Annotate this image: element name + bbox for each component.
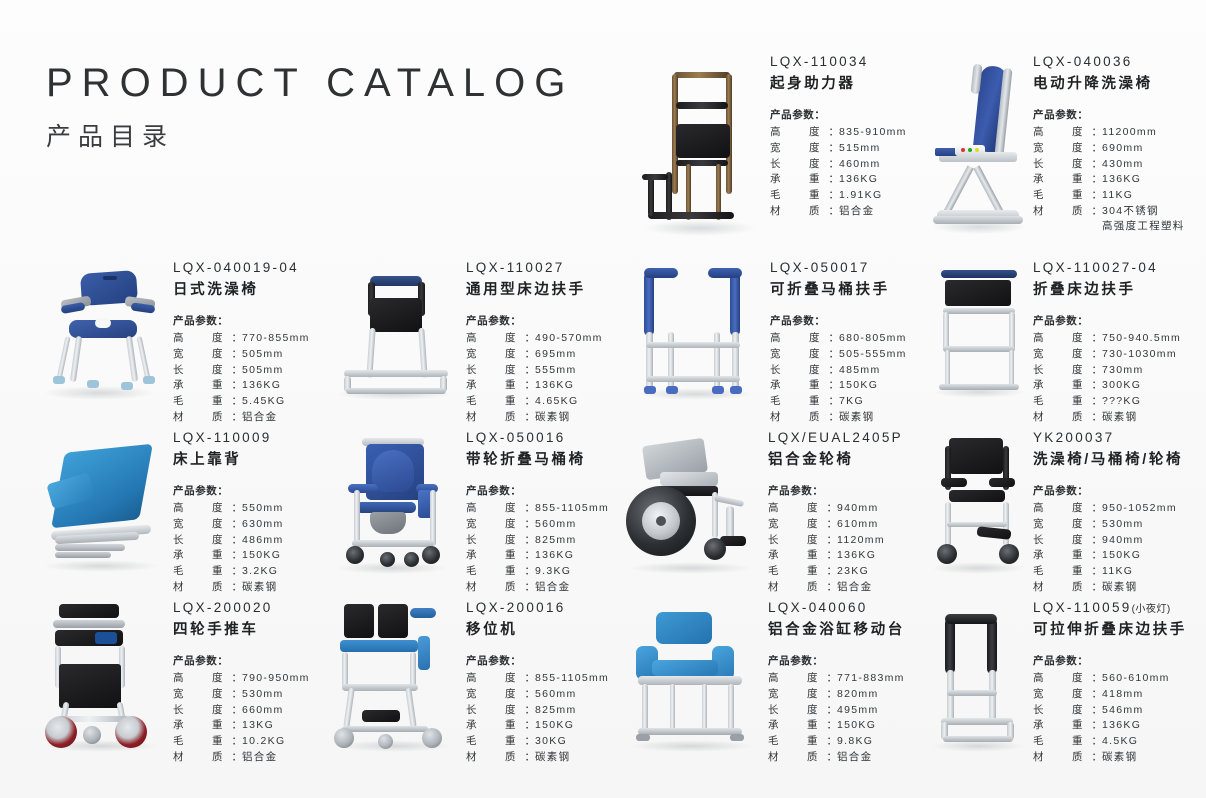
product-name: 通用型床边扶手 [466,282,618,299]
spec-row-height: 高 度：855-1105mm [466,501,609,517]
product-image-lqx-eual2405p [608,428,768,578]
spec-row-width: 宽 度：560mm [466,516,609,532]
product-name: 电动升降洗澡椅 [1033,76,1205,93]
spec-row-height: 高 度：770-855mm [173,331,310,347]
product-name: 铝合金浴缸移动台 [768,622,918,639]
product-name: 铝合金轮椅 [768,452,918,469]
product-model: LQX-110059(小夜灯) [1033,600,1205,616]
spec-row-height: 高 度：550mm [173,501,284,517]
product-image-lqx-110027-04 [925,258,1033,406]
spec-row-load: 承 重：150KG [173,548,284,564]
product-name: 洗澡椅/马桶椅/轮椅 [1033,452,1205,469]
product-model: LQX-110027-04 [1033,260,1205,276]
product-model: LQX-040019-04 [173,260,325,276]
spec-row-gross: 毛 重：9.3KG [466,563,609,579]
spec-row-load: 承 重：150KG [768,718,905,734]
product-image-lqx-110027 [318,258,466,406]
spec-row-material: 材 质：铝合金 [466,579,609,595]
spec-row-length: 长 度：486mm [173,532,284,548]
spec-row-height: 高 度：855-1105mm [466,671,609,687]
spec-row-gross: 毛 重：4.65KG [466,393,603,409]
spec-table: 高 度：490-570mm 宽 度：695mm 长 度：555mm 承 重：13… [466,331,603,425]
product-model: LQX/EUAL2405P [768,430,918,446]
spec-heading: 产品参数： [466,653,618,668]
product-card-lqx-200016[interactable]: LQX-200016 移位机 产品参数： 高 度：855-1105mm 宽 度：… [318,598,618,765]
product-image-lqx-050017 [620,258,770,406]
spec-heading: 产品参数： [770,107,907,122]
spec-row-material: 材 质：碳素钢 [1033,409,1181,425]
spec-row-width: 宽 度：505-555mm [770,346,907,362]
spec-row-width: 宽 度：418mm [1033,686,1170,702]
spec-row-gross: 毛 重：7KG [770,393,907,409]
spec-table: 高 度：855-1105mm 宽 度：560mm 长 度：825mm 承 重：1… [466,501,609,595]
spec-row-load: 承 重：136KG [173,378,310,394]
product-card-lqx-050016[interactable]: LQX-050016 带轮折叠马桶椅 产品参数： 高 度：855-1105mm … [318,428,618,595]
product-name: 带轮折叠马桶椅 [466,452,618,469]
product-card-lqx-040019-04[interactable]: LQX-040019-04 日式洗澡椅 产品参数： 高 度：770-855mm … [25,258,325,425]
spec-row-material: 材 质：铝合金 [768,579,885,595]
product-image-lqx-040019-04 [25,258,173,406]
product-image-lqx-110034 [630,52,770,242]
spec-heading: 产品参数： [173,313,325,328]
spec-row-gross: 毛 重：23KG [768,563,885,579]
spec-table: 高 度：770-855mm 宽 度：505mm 长 度：505mm 承 重：13… [173,331,310,425]
product-name: 床上靠背 [173,452,325,469]
product-image-lqx-110009 [25,428,173,578]
product-image-lqx-110059 [925,598,1033,758]
product-image-lqx-040036 [925,52,1033,242]
spec-row-gross: 毛 重：9.8KG [768,733,905,749]
product-model: LQX-110034 [770,54,907,70]
spec-row-height: 高 度：771-883mm [768,671,905,687]
spec-heading: 产品参数： [768,483,918,498]
spec-heading: 产品参数： [173,653,325,668]
spec-row-gross: 毛 重：10.2KG [173,733,310,749]
spec-row-material: 材 质：碳素钢 [173,579,284,595]
spec-row-material: 材 质：304不锈钢 [1033,203,1185,219]
spec-heading: 产品参数： [466,313,618,328]
spec-heading: 产品参数： [1033,313,1205,328]
spec-row-height: 高 度：750-940.5mm [1033,331,1181,347]
spec-row-load: 承 重：300KG [1033,378,1181,394]
spec-row-material: 材 质：碳素钢 [1033,749,1170,765]
spec-row-load: 承 重：136KG [1033,172,1185,188]
product-card-lqx-110059[interactable]: LQX-110059(小夜灯) 可拉伸折叠床边扶手 产品参数： 高 度：560-… [925,598,1205,765]
spec-row-material: 材 质：铝合金 [770,203,907,219]
product-name: 可折叠马桶扶手 [770,282,920,299]
product-card-lqx-eual2405p[interactable]: LQX/EUAL2405P 铝合金轮椅 产品参数： 高 度：940mm 宽 度：… [608,428,918,595]
product-model: LQX-050016 [466,430,618,446]
spec-row-length: 长 度：660mm [173,702,310,718]
spec-table: 高 度：950-1052mm 宽 度：530mm 长 度：940mm 承 重：1… [1033,501,1177,595]
spec-heading: 产品参数： [1033,107,1205,122]
product-card-lqx-110027[interactable]: LQX-110027 通用型床边扶手 产品参数： 高 度：490-570mm 宽… [318,258,618,425]
material-extra: 高强度工程塑料 [1102,219,1185,235]
product-card-lqx-040060[interactable]: LQX-040060 铝合金浴缸移动台 产品参数： 高 度：771-883mm … [608,598,918,765]
product-image-lqx-050016 [318,428,466,578]
spec-row-load: 承 重：136KG [768,548,885,564]
catalog-header: PRODUCT CATALOG 产品目录 [46,62,606,153]
product-model: YK200037 [1033,430,1205,446]
product-image-lqx-040060 [608,598,768,758]
product-model: LQX-040060 [768,600,918,616]
product-model: LQX-200016 [466,600,618,616]
product-name: 移位机 [466,622,618,639]
product-name: 四轮手推车 [173,622,325,639]
spec-row-length: 长 度：460mm [770,156,907,172]
product-image-yk200037 [925,428,1033,578]
spec-row-gross: 毛 重：3.2KG [173,563,284,579]
page-title-chinese: 产品目录 [46,117,606,153]
spec-row-gross: 毛 重：11KG [1033,563,1177,579]
spec-row-load: 承 重：136KG [1033,718,1170,734]
spec-row-load: 承 重：150KG [1033,548,1177,564]
spec-heading: 产品参数： [173,483,325,498]
spec-row-material: 材 质：铝合金 [173,409,310,425]
spec-row-width: 宽 度：730-1030mm [1033,346,1181,362]
product-image-lqx-200016 [318,598,466,758]
spec-row-gross: 毛 重：1.91KG [770,187,907,203]
spec-row-width: 宽 度：690mm [1033,140,1185,156]
spec-row-width: 宽 度：530mm [1033,516,1177,532]
spec-row-width: 宽 度：515mm [770,140,907,156]
product-image-lqx-200020 [25,598,173,758]
spec-row-gross: 毛 重：5.45KG [173,393,310,409]
spec-row-width: 宽 度：820mm [768,686,905,702]
spec-table: 高 度：940mm 宽 度：610mm 长 度：1120mm 承 重：136KG… [768,501,885,595]
spec-row-gross: 毛 重：???KG [1033,393,1181,409]
product-card-lqx-110027-04[interactable]: LQX-110027-04 折叠床边扶手 产品参数： 高 度：750-940.5… [925,258,1205,425]
product-name: 日式洗澡椅 [173,282,325,299]
spec-row-height: 高 度：950-1052mm [1033,501,1177,517]
spec-table: 高 度：771-883mm 宽 度：820mm 长 度：495mm 承 重：15… [768,671,905,765]
product-card-lqx-050017[interactable]: LQX-050017 可折叠马桶扶手 产品参数： 高 度：680-805mm 宽… [620,258,920,425]
spec-row-height: 高 度：680-805mm [770,331,907,347]
spec-row-width: 宽 度：695mm [466,346,603,362]
product-model: LQX-110009 [173,430,325,446]
spec-row-load: 承 重：136KG [770,172,907,188]
spec-row-gross: 毛 重：30KG [466,733,609,749]
spec-row-length: 长 度：495mm [768,702,905,718]
spec-heading: 产品参数： [770,313,920,328]
spec-row-height: 高 度：790-950mm [173,671,310,687]
product-name: 可拉伸折叠床边扶手 [1033,622,1205,639]
spec-table: 高 度：550mm 宽 度：630mm 长 度：486mm 承 重：150KG … [173,501,284,595]
spec-table: 高 度：11200mm 宽 度：690mm 长 度：430mm 承 重：136K… [1033,125,1185,235]
spec-row-height: 高 度：940mm [768,501,885,517]
spec-table: 高 度：560-610mm 宽 度：418mm 长 度：546mm 承 重：13… [1033,671,1170,765]
product-card-lqx-040036[interactable]: LQX-040036 电动升降洗澡椅 产品参数： 高 度：11200mm 宽 度… [925,52,1205,242]
product-model: LQX-200020 [173,600,325,616]
product-name: 折叠床边扶手 [1033,282,1205,299]
product-name: 起身助力器 [770,76,907,93]
spec-row-load: 承 重：13KG [173,718,310,734]
spec-table: 高 度：680-805mm 宽 度：505-555mm 长 度：485mm 承 … [770,331,907,425]
spec-row-load: 承 重：136KG [466,548,609,564]
spec-row-length: 长 度：555mm [466,362,603,378]
spec-row-material: 材 质：碳素钢 [466,749,609,765]
spec-row-height: 高 度：560-610mm [1033,671,1170,687]
spec-row-material: 材 质：碳素钢 [466,409,603,425]
spec-row-width: 宽 度：560mm [466,686,609,702]
product-model: LQX-110027 [466,260,618,276]
spec-row-material: 材 质：铝合金 [768,749,905,765]
spec-row-length: 长 度：940mm [1033,532,1177,548]
spec-heading: 产品参数： [1033,483,1205,498]
spec-row-width: 宽 度：630mm [173,516,284,532]
spec-row-length: 长 度：730mm [1033,362,1181,378]
spec-table: 高 度：750-940.5mm 宽 度：730-1030mm 长 度：730mm… [1033,331,1181,425]
spec-table: 高 度：855-1105mm 宽 度：560mm 长 度：825mm 承 重：1… [466,671,609,765]
spec-row-gross: 毛 重：11KG [1033,187,1185,203]
spec-row-load: 承 重：150KG [466,718,609,734]
spec-row-height: 高 度：490-570mm [466,331,603,347]
product-model: LQX-050017 [770,260,920,276]
spec-row-material-extra: 高强度工程塑料 [1033,219,1185,235]
product-card-lqx-110009[interactable]: LQX-110009 床上靠背 产品参数： 高 度：550mm 宽 度：630m… [25,428,325,595]
spec-row-height: 高 度：835-910mm [770,125,907,141]
spec-row-length: 长 度：825mm [466,702,609,718]
spec-row-width: 宽 度：505mm [173,346,310,362]
catalog-page: PRODUCT CATALOG 产品目录 LQX-1 [0,0,1206,798]
spec-heading: 产品参数： [466,483,618,498]
spec-row-load: 承 重：150KG [770,378,907,394]
product-card-lqx-110034[interactable]: LQX-110034 起身助力器 产品参数： 高 度：835-910mm 宽 度… [630,52,880,242]
spec-row-load: 承 重：136KG [466,378,603,394]
product-card-lqx-200020[interactable]: LQX-200020 四轮手推车 产品参数： 高 度：790-950mm 宽 度… [25,598,325,765]
spec-row-gross: 毛 重：4.5KG [1033,733,1170,749]
spec-row-length: 长 度：1120mm [768,532,885,548]
spec-row-length: 长 度：430mm [1033,156,1185,172]
spec-row-length: 长 度：505mm [173,362,310,378]
spec-table: 高 度：790-950mm 宽 度：530mm 长 度：660mm 承 重：13… [173,671,310,765]
model-code: LQX-110059 [1033,600,1132,615]
spec-table: 高 度：835-910mm 宽 度：515mm 长 度：460mm 承 重：13… [770,125,907,219]
page-title-english: PRODUCT CATALOG [46,62,606,104]
spec-row-length: 长 度：825mm [466,532,609,548]
spec-row-material: 材 质：铝合金 [173,749,310,765]
spec-row-height: 高 度：11200mm [1033,125,1185,141]
spec-heading: 产品参数： [1033,653,1205,668]
spec-row-length: 长 度：546mm [1033,702,1170,718]
spec-row-length: 长 度：485mm [770,362,907,378]
product-model: LQX-040036 [1033,54,1205,70]
spec-row-material: 材 质：碳素钢 [1033,579,1177,595]
spec-heading: 产品参数： [768,653,918,668]
spec-row-width: 宽 度：530mm [173,686,310,702]
spec-row-width: 宽 度：610mm [768,516,885,532]
model-note: (小夜灯) [1132,604,1171,615]
spec-row-material: 材 质：碳素钢 [770,409,907,425]
product-card-yk200037[interactable]: YK200037 洗澡椅/马桶椅/轮椅 产品参数： 高 度：950-1052mm… [925,428,1205,595]
